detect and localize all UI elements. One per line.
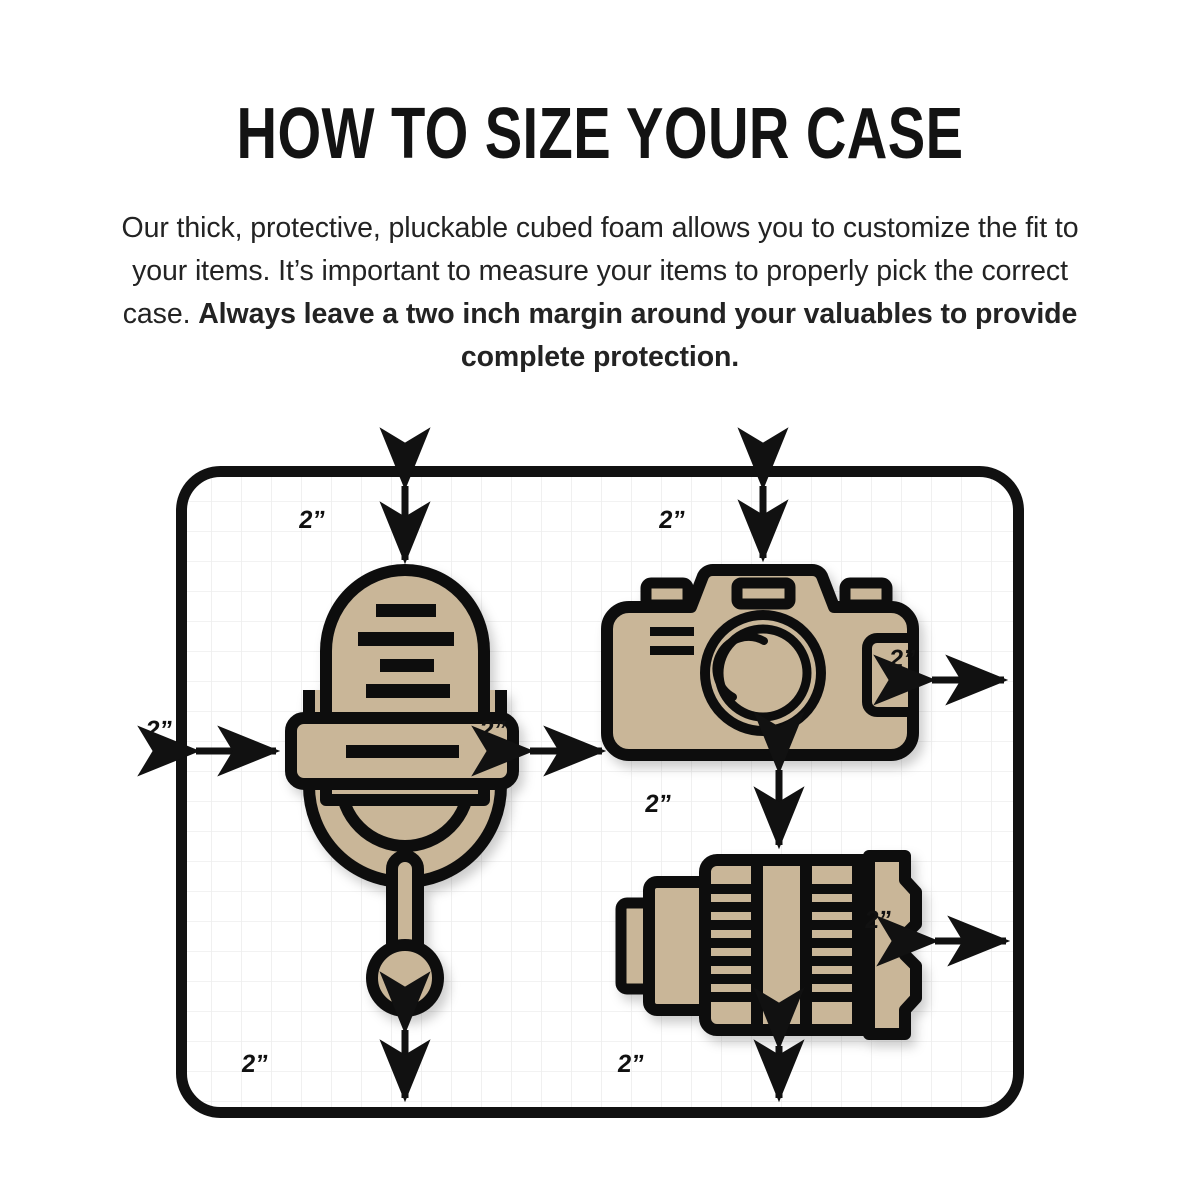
- microphone-band-slot: [346, 745, 459, 758]
- lens-divider-left: [751, 866, 763, 1024]
- label-lens-right: 2”: [864, 906, 893, 934]
- camera-viewfinder: [737, 583, 790, 604]
- infographic-page: HOW TO SIZE YOUR CASE Our thick, protect…: [0, 0, 1200, 1200]
- label-camera-right: 2”: [888, 645, 917, 673]
- label-camera-top: 2”: [657, 506, 686, 534]
- lens-divider-right: [852, 866, 864, 1024]
- label-mic-top: 2”: [297, 506, 326, 534]
- case-diagram: 2” 2” 2” 2” 2” 2” 2” 2” 2”: [0, 0, 1200, 1200]
- camera-icon: [607, 570, 913, 755]
- lens-front-hood: [869, 856, 916, 1034]
- label-camera-bottom: 2”: [644, 790, 673, 818]
- label-mic-right: 2”: [479, 716, 508, 744]
- label-mic-bottom: 2”: [240, 1050, 269, 1078]
- label-mic-left: 2”: [145, 716, 174, 744]
- label-lens-bottom: 2”: [616, 1050, 645, 1078]
- camera-lens-icon: [621, 856, 916, 1034]
- case-diagram-svg: 2” 2” 2” 2” 2” 2” 2” 2” 2”: [0, 0, 1200, 1200]
- lens-divider-mid: [800, 866, 812, 1024]
